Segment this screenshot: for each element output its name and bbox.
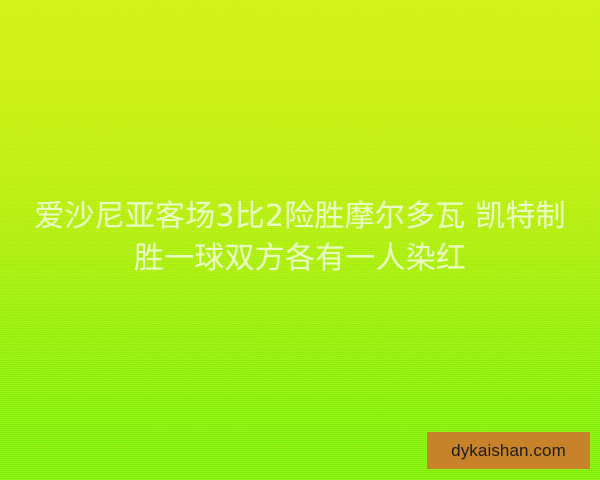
headline-line-2: 胜一球双方各有一人染红: [22, 238, 578, 280]
headline-text-block: 爱沙尼亚客场3比2险胜摩尔多瓦 凯特制 胜一球双方各有一人染红: [0, 196, 600, 280]
watermark-label: dykaishan.com: [451, 442, 566, 459]
watermark-badge: dykaishan.com: [427, 432, 590, 469]
headline-line-1: 爱沙尼亚客场3比2险胜摩尔多瓦 凯特制: [22, 196, 578, 238]
headline-banner-image: 爱沙尼亚客场3比2险胜摩尔多瓦 凯特制 胜一球双方各有一人染红 dykaisha…: [0, 0, 600, 480]
